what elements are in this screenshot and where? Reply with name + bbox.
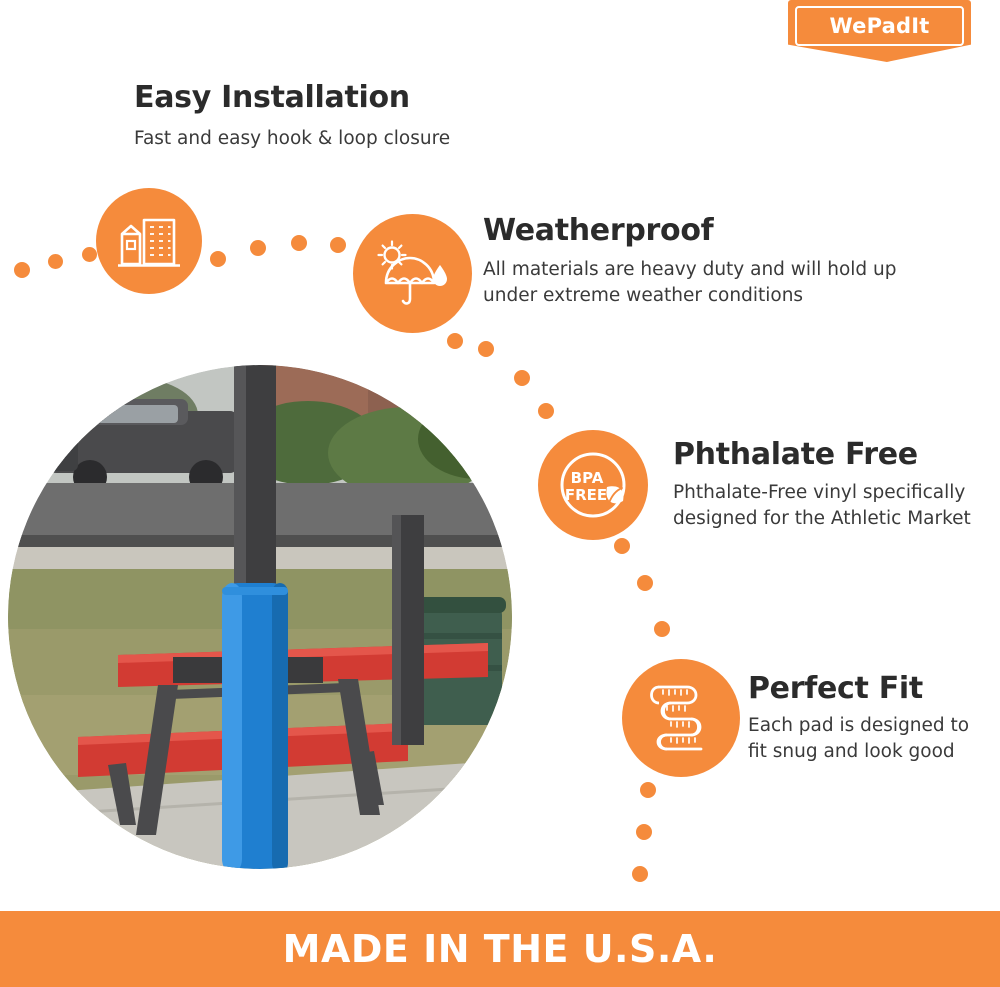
brand-logo: WePadIt — [788, 0, 971, 62]
product-photo — [8, 365, 512, 869]
trail-dot — [210, 251, 226, 267]
footer-text: MADE IN THE U.S.A. — [283, 927, 718, 971]
feature-title: Easy Installation — [134, 80, 564, 115]
infographic-canvas: WePadIt Easy Installation Fast and easy … — [0, 0, 1000, 987]
feature-description: Fast and easy hook & loop closure — [134, 126, 564, 152]
trail-dot — [538, 403, 554, 419]
feature-perfect-fit: Perfect Fit Each pad is designed to fit … — [748, 671, 983, 765]
feature-description: Each pad is designed to fit snug and loo… — [748, 713, 983, 765]
feature-title: Perfect Fit — [748, 671, 983, 706]
building-install-icon — [96, 188, 202, 294]
trail-dot — [250, 240, 266, 256]
feature-weatherproof: Weatherproof All materials are heavy dut… — [483, 213, 913, 309]
trail-dot — [447, 333, 463, 349]
feature-easy-installation: Easy Installation Fast and easy hook & l… — [134, 80, 564, 152]
trail-dot — [14, 262, 30, 278]
logo-text: WePadIt — [830, 14, 930, 38]
trail-dot — [330, 237, 346, 253]
logo-border: WePadIt — [795, 6, 964, 46]
trail-dot — [614, 538, 630, 554]
svg-text:BPA: BPA — [571, 469, 604, 487]
trail-dot — [654, 621, 670, 637]
feature-description: All materials are heavy duty and will ho… — [483, 257, 913, 309]
trail-dot — [291, 235, 307, 251]
tape-measure-icon — [622, 659, 740, 777]
feature-phthalate-free: Phthalate Free Phthalate-Free vinyl spec… — [673, 437, 973, 532]
bpa-free-leaf-icon: BPA FREE — [538, 430, 648, 540]
trail-dot — [82, 247, 97, 262]
trail-dot — [637, 575, 653, 591]
trail-dot — [514, 370, 530, 386]
made-in-usa-banner: MADE IN THE U.S.A. — [0, 911, 1000, 987]
trail-dot — [640, 782, 656, 798]
trail-dot — [632, 866, 648, 882]
trail-dot — [636, 824, 652, 840]
feature-title: Phthalate Free — [673, 437, 973, 472]
sun-umbrella-rain-icon — [353, 214, 472, 333]
svg-text:FREE: FREE — [565, 486, 607, 504]
trail-dot — [48, 254, 63, 269]
feature-description: Phthalate-Free vinyl specifically design… — [673, 480, 973, 532]
trail-dot — [478, 341, 494, 357]
feature-title: Weatherproof — [483, 213, 913, 248]
